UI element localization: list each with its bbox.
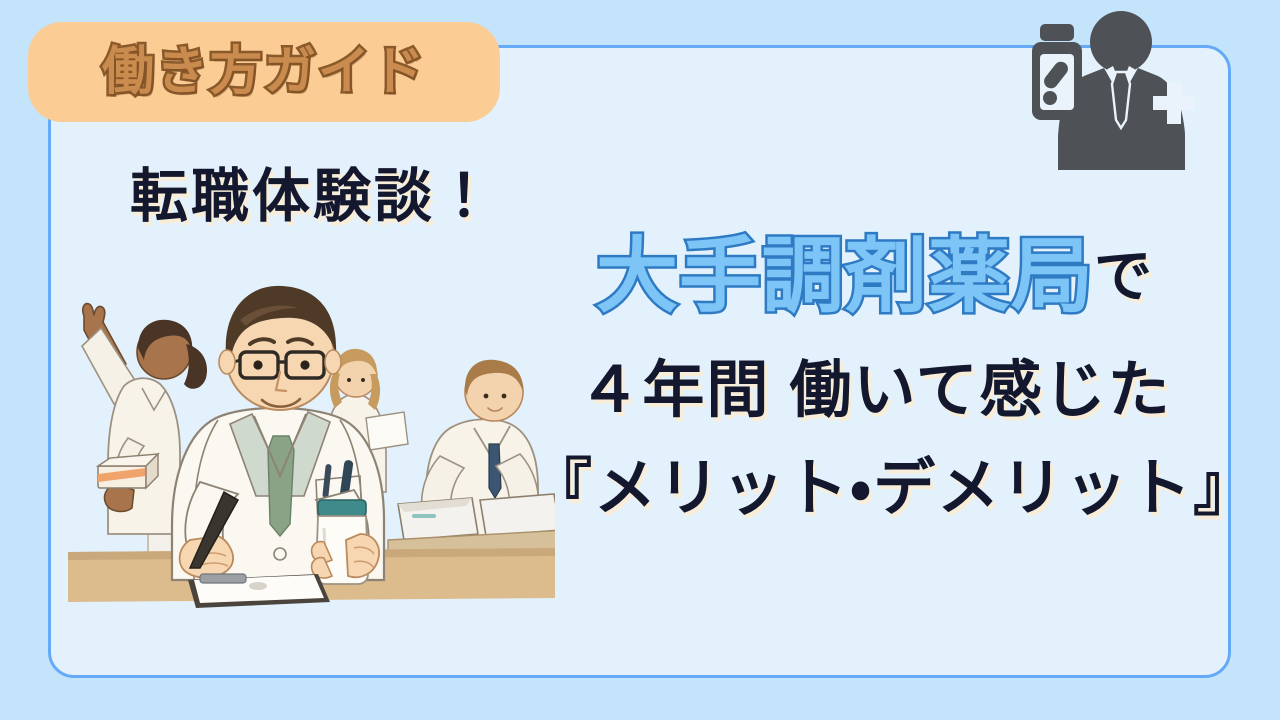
pharmacist-icon [1022,2,1208,170]
headline-block: 大手調剤薬局で ４年間 働いて感じた 『メリット・デメリット』 [530,236,1220,520]
headline-line-1-suffix: で [1094,244,1154,309]
headline-line-1: 大手調剤薬局で [530,236,1220,318]
headline-accent-text: 大手調剤薬局 [596,231,1094,322]
pharmacy-team-illustration [68,268,555,610]
thumbnail-canvas: 働き方ガイド 転職体験談！ 大手調剤薬局 [0,0,1280,720]
subtitle-text: 転職体験談！ [130,168,496,226]
headline-line-2: ４年間 働いて感じた [530,360,1220,422]
category-badge-label: 働き方ガイド [102,46,426,98]
headline-line-3: 『メリット・デメリット』 [530,458,1220,520]
category-badge: 働き方ガイド [28,22,500,122]
